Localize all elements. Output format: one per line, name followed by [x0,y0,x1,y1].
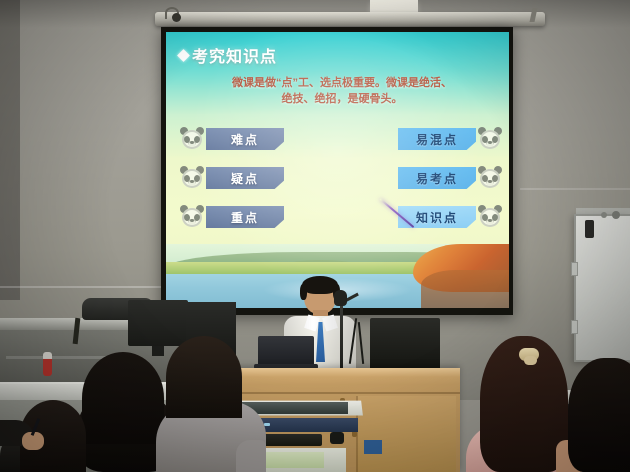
slide-body-line-1: 微课是做“点”工、选点极重要。微课是绝活、 [232,77,452,89]
panda-icon [478,166,502,190]
presentation-slide: 考究知识点 微课是做“点”工、选点极重要。微课是绝活、 绝技、绝招，是硬骨头。 … [166,32,509,308]
projection-screen: 考究知识点 微课是做“点”工、选点极重要。微课是绝活、 绝技、绝招，是硬骨头。 … [161,27,513,315]
red-bottle [43,352,52,376]
panda-icon [478,205,502,229]
attendee-center-head [166,336,242,418]
classroom-photo: 考究知识点 微课是做“点”工、选点极重要。微课是绝活、 绝技、绝招，是硬骨头。 … [0,0,630,472]
wall-seam [0,286,170,288]
grid-cell-yihundian: 易混点 [398,127,502,151]
knowledge-tag-zhongdian[interactable]: 重点 [206,206,284,228]
microphone-stand [340,298,343,370]
diamond-bullet-icon [177,49,190,62]
grid-row: 重点 知识点 [180,202,502,232]
slide-body-text: 微课是做“点”工、选点极重要。微课是绝活、 绝技、绝招，是硬骨头。 [188,76,496,108]
panda-icon [180,205,204,229]
grid-cell-nandian: 难点 [180,127,284,151]
slide-title-text: 考究知识点 [192,43,277,67]
grid-cell-yikaodian: 易考点 [398,166,502,190]
presenter-laptop [258,336,314,366]
wall-whiteboard [574,214,630,362]
whiteboard-hinge [571,320,578,334]
whiteboard-knob-icon [612,211,620,219]
left-wall [0,0,20,300]
panda-icon [180,166,204,190]
slide-title: 考究知识点 [179,43,277,67]
grid-cell-yidian: 疑点 [180,166,284,190]
knowledge-tag-yihundian[interactable]: 易混点 [398,128,476,150]
projection-screen-roller [155,12,545,26]
grid-row: 疑点 易考点 [180,163,502,193]
av-equipment [370,318,440,370]
roller-knob-icon [172,13,181,22]
microphone-icon [334,290,347,306]
podium-cabinet-door[interactable] [356,396,456,472]
attendee-left-head [82,352,164,444]
wall-seam-right [520,188,630,190]
whiteboard-hinge [571,262,578,276]
knowledge-tag-nandian[interactable]: 难点 [206,128,284,150]
lab-console-dial[interactable] [330,432,344,444]
rear-monitor [128,300,188,346]
whiteboard-clip-icon [585,220,594,238]
grid-cell-zhongdian: 重点 [180,205,284,229]
panda-icon [478,127,502,151]
attendee-far-right-head [568,358,630,472]
whiteboard-knob-icon [601,212,607,218]
panda-icon [180,127,204,151]
knowledge-point-grid: 难点 易混点 [180,124,502,236]
hair-clip-detail-icon [524,356,537,365]
attendee-center-arm [236,440,266,472]
knowledge-tag-yikaodian[interactable]: 易考点 [398,167,476,189]
monitor-stand [152,346,164,356]
grid-row: 难点 易混点 [180,124,502,154]
blue-equipment-box [364,440,382,454]
slide-body-line-2: 绝技、绝招，是硬骨头。 [188,92,496,108]
knowledge-tag-yidian[interactable]: 疑点 [206,167,284,189]
